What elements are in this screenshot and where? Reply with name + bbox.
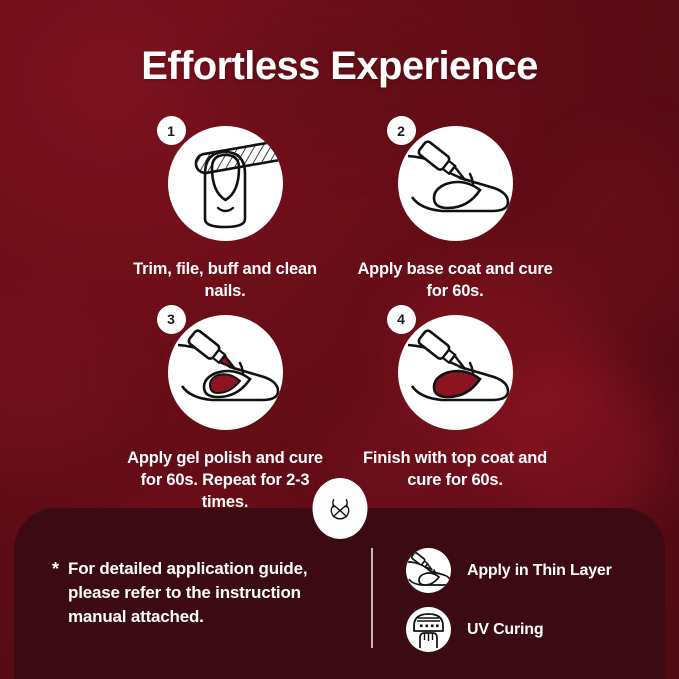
brand-logo-icon: [312, 478, 367, 539]
step-item: 4: [340, 315, 570, 514]
thin-layer-brush-icon: [406, 548, 451, 593]
step-number-badge: 1: [157, 116, 186, 145]
feature-label: UV Curing: [467, 621, 543, 639]
gel-polish-brush-icon: [168, 315, 283, 430]
feature-item: Apply in Thin Layer: [406, 548, 612, 593]
step-illustration-wrap: 1: [168, 126, 283, 241]
nail-file-icon: [168, 126, 283, 241]
step-caption: Trim, file, buff and clean nails.: [118, 258, 333, 303]
steps-grid: 1: [110, 126, 570, 513]
step-item: 3: [110, 315, 340, 514]
infographic-root: Effortless Experience 1: [0, 0, 679, 679]
step-caption: Apply gel polish and cure for 60s. Repea…: [118, 447, 333, 514]
footnote-marker: *: [52, 557, 59, 629]
step-number-badge: 4: [387, 305, 416, 334]
footnote-text: For detailed application guide, please r…: [68, 557, 362, 629]
vertical-divider: [371, 548, 373, 648]
footnote: * For detailed application guide, please…: [52, 557, 362, 629]
step-caption: Finish with top coat and cure for 60s.: [348, 447, 563, 492]
step-illustration-wrap: 2: [398, 126, 513, 241]
step-number-badge: 3: [157, 305, 186, 334]
step-illustration-wrap: 3: [168, 315, 283, 430]
page-title: Effortless Experience: [0, 44, 679, 89]
features-list: Apply in Thin Layer: [406, 548, 612, 666]
step-caption: Apply base coat and cure for 60s.: [348, 258, 563, 303]
top-coat-brush-icon: [398, 315, 513, 430]
uv-lamp-icon: [406, 607, 451, 652]
step-number-badge: 2: [387, 116, 416, 145]
step-item: 2: [340, 126, 570, 303]
feature-label: Apply in Thin Layer: [467, 562, 612, 580]
step-illustration-wrap: 4: [398, 315, 513, 430]
base-coat-brush-icon: [398, 126, 513, 241]
feature-item: UV Curing: [406, 607, 612, 652]
steps-row-1: 1: [110, 126, 570, 303]
step-item: 1: [110, 126, 340, 303]
